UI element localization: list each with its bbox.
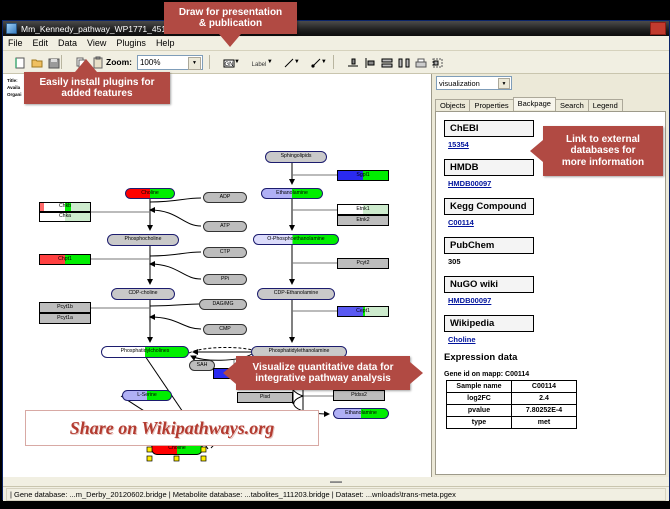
menu-file[interactable]: File bbox=[7, 38, 24, 48]
node-label: Choline bbox=[141, 191, 159, 196]
node-label: CTP bbox=[220, 250, 230, 255]
gene-chkb[interactable]: Chkb bbox=[39, 202, 91, 212]
node-ppi[interactable]: PPi bbox=[203, 274, 247, 285]
node-label: Ethanolamine bbox=[345, 411, 377, 416]
status-bar: | Gene database: ...m_Derby_20120602.bri… bbox=[3, 486, 669, 501]
node-dagmg[interactable]: DAG/MG bbox=[199, 299, 247, 310]
node-label: Ptdss2 bbox=[351, 393, 367, 398]
node-label: Ethanolamine bbox=[276, 191, 308, 196]
node-label: Sgpl1 bbox=[356, 173, 369, 178]
node-label: Pcyt1a bbox=[57, 316, 73, 321]
table-row: type met bbox=[447, 417, 577, 429]
db-header-pubchem: PubChem bbox=[444, 237, 534, 254]
align-top-icon[interactable] bbox=[340, 55, 354, 69]
node-o-phosphoethanolamine[interactable]: O-Phosphoethanolamine bbox=[253, 234, 339, 245]
expression-table: Sample name C00114 log2FC 2.4 pvalue 7.8… bbox=[446, 380, 577, 429]
node-label: O-Phosphoethanolamine bbox=[267, 237, 324, 242]
node-label: Pisd bbox=[260, 395, 270, 400]
toolbar-separator-2 bbox=[209, 55, 210, 69]
tab-objects[interactable]: Objects bbox=[435, 99, 470, 111]
interaction-icon[interactable] bbox=[303, 55, 317, 69]
app-icon bbox=[6, 23, 17, 34]
table-row: pvalue 7.80252E-4 bbox=[447, 405, 577, 417]
gene-product-icon[interactable]: GN bbox=[216, 55, 230, 69]
toolbar-separator-3 bbox=[333, 55, 334, 69]
expr-value-pvalue: 7.80252E-4 bbox=[512, 405, 577, 417]
node-label: CDP-choline bbox=[128, 291, 157, 296]
db-header-chebi: ChEBI bbox=[444, 120, 534, 137]
node-label: Pcyt1b bbox=[57, 305, 73, 310]
group-icon[interactable] bbox=[425, 55, 439, 69]
gene-ptdss2[interactable]: Ptdss2 bbox=[333, 390, 385, 401]
gene-chka[interactable]: Chka bbox=[39, 212, 91, 222]
table-row: Sample name C00114 bbox=[447, 381, 577, 393]
gene-id-line: Gene id on mapp: C00114 bbox=[444, 371, 665, 378]
horizontal-scrollbar[interactable]: ▬▬ bbox=[3, 477, 669, 486]
expr-value-type: met bbox=[512, 417, 577, 429]
node-label: Chka bbox=[59, 214, 71, 219]
link-callout-arrow bbox=[530, 140, 543, 162]
zoom-label: Zoom: bbox=[106, 57, 132, 67]
align-left-icon[interactable] bbox=[357, 55, 371, 69]
menu-plugins[interactable]: Plugins bbox=[115, 38, 147, 48]
tool-bar[interactable]: Zoom: 100% ▼ GN ▼ Label ▼ ▼ ▼ bbox=[3, 51, 669, 74]
visualize-callout: Visualize quantitative data for integrat… bbox=[236, 356, 410, 390]
node-choline-top[interactable]: Choline bbox=[125, 188, 175, 199]
gene-etnk2[interactable]: Etnk2 bbox=[337, 215, 389, 226]
node-phosphatidylcholines[interactable]: Phosphatidylcholines bbox=[101, 346, 189, 358]
toolbar-separator-1 bbox=[61, 55, 62, 69]
visualization-value: visualization bbox=[439, 79, 480, 88]
title-bar: Mm_Kennedy_pathway_WP1771_45176.gpml bbox=[3, 21, 669, 36]
node-label: SAH bbox=[197, 363, 208, 368]
svg-text:Label: Label bbox=[252, 62, 267, 68]
zoom-combo[interactable]: 100% ▼ bbox=[137, 55, 203, 70]
menu-help[interactable]: Help bbox=[155, 38, 176, 48]
node-label: Chpt1 bbox=[58, 257, 72, 262]
db-header-wikipedia: Wikipedia bbox=[444, 315, 534, 332]
node-label: Cept1 bbox=[356, 309, 370, 314]
chevron-down-icon[interactable]: ▼ bbox=[498, 78, 510, 89]
plugins-callout: Easily install plugins for added feature… bbox=[24, 72, 170, 104]
expr-label-pvalue: pvalue bbox=[447, 405, 512, 417]
node-cmp[interactable]: CMP bbox=[203, 324, 247, 335]
db-link-hmdb[interactable]: HMDB00097 bbox=[448, 179, 665, 188]
node-label: CMP bbox=[219, 327, 231, 332]
visualize-callout-arrow-left bbox=[223, 362, 236, 384]
expr-label-sample-name: Sample name bbox=[447, 381, 512, 393]
node-ethanolamine-top[interactable]: Ethanolamine bbox=[261, 188, 323, 199]
tab-properties[interactable]: Properties bbox=[469, 99, 513, 111]
node-label: CDP-Ethanolamine bbox=[274, 291, 318, 296]
node-label: DAG/MG bbox=[212, 302, 233, 307]
node-cdp-choline[interactable]: CDP-choline bbox=[111, 288, 175, 300]
menu-data[interactable]: Data bbox=[57, 38, 78, 48]
gene-sgpl1[interactable]: Sgpl1 bbox=[337, 170, 389, 181]
db-link-nugo-wiki[interactable]: HMDB00097 bbox=[448, 296, 665, 305]
visualization-select[interactable]: visualization ▼ bbox=[436, 76, 512, 90]
node-ctp[interactable]: CTP bbox=[203, 247, 247, 258]
window-controls[interactable] bbox=[650, 22, 666, 35]
node-sah[interactable]: SAH bbox=[189, 360, 215, 371]
node-label: Pcyt2 bbox=[357, 261, 370, 266]
pathway-canvas[interactable]: Title: Availa Organi bbox=[3, 74, 432, 477]
status-bar-text: | Gene database: ...m_Derby_20120602.bri… bbox=[6, 488, 666, 501]
chevron-down-icon[interactable]: ▼ bbox=[188, 57, 201, 70]
share-callout: Share on Wikipathways.org bbox=[25, 410, 319, 446]
open-file-icon[interactable] bbox=[24, 55, 38, 69]
draw-callout: Draw for presentation & publication bbox=[164, 2, 297, 34]
new-file-icon[interactable] bbox=[7, 55, 21, 69]
db-header-hmdb: HMDB bbox=[444, 159, 534, 176]
db-link-wikipedia[interactable]: Choline bbox=[448, 335, 665, 344]
node-label: ATP bbox=[220, 224, 230, 229]
plugins-callout-arrow bbox=[75, 59, 97, 72]
node-atp[interactable]: ATP bbox=[203, 221, 247, 232]
visualize-callout-arrow-right bbox=[410, 362, 423, 384]
node-sphingolipids[interactable]: Sphingolipids bbox=[265, 151, 327, 163]
node-label: Etnk2 bbox=[356, 218, 369, 223]
gene-chpt1[interactable]: Chpt1 bbox=[39, 254, 91, 265]
gene-pcyt1a[interactable]: Pcyt1a bbox=[39, 313, 91, 324]
node-label: Chkb bbox=[59, 204, 71, 209]
db-header-kegg-compound: Kegg Compound bbox=[444, 198, 534, 215]
node-label: PPi bbox=[221, 277, 229, 282]
db-link-kegg-compound[interactable]: C00114 bbox=[448, 218, 665, 227]
zoom-value: 100% bbox=[140, 58, 160, 67]
expr-label-type: type bbox=[447, 417, 512, 429]
stack-vertical-icon[interactable] bbox=[374, 55, 388, 69]
node-label: Sphingolipids bbox=[281, 154, 312, 159]
save-file-icon[interactable] bbox=[41, 55, 55, 69]
expression-data-heading: Expression data bbox=[444, 352, 665, 363]
node-l-serine-left[interactable]: L-Serine bbox=[122, 390, 172, 401]
node-label: L-Serine bbox=[137, 393, 157, 398]
node-label: Etnk1 bbox=[356, 207, 369, 212]
link-callout: Link to external databases for more info… bbox=[543, 126, 663, 176]
gene-pcyt1b[interactable]: Pcyt1b bbox=[39, 302, 91, 313]
svg-text:GN: GN bbox=[224, 62, 233, 68]
menu-bar[interactable]: File Edit Data View Plugins Help bbox=[3, 36, 669, 51]
menu-edit[interactable]: Edit bbox=[32, 38, 50, 48]
minimize-button[interactable] bbox=[650, 22, 666, 35]
print-icon[interactable] bbox=[408, 55, 422, 69]
distribute-icon[interactable] bbox=[391, 55, 405, 69]
share-callout-text: Share on Wikipathways.org bbox=[70, 418, 275, 439]
gene-pisd[interactable]: Pisd bbox=[237, 392, 293, 403]
table-row: log2FC 2.4 bbox=[447, 393, 577, 405]
node-label: Phosphatidylcholines bbox=[121, 349, 170, 354]
tab-backpage[interactable]: Backpage bbox=[513, 97, 556, 110]
db-header-nugo-wiki: NuGO wiki bbox=[444, 276, 534, 293]
expr-value-sample-name: C00114 bbox=[512, 381, 577, 393]
node-ethanolamine-bottom[interactable]: Ethanolamine bbox=[333, 408, 389, 419]
node-cdp-ethanolamine[interactable]: CDP-Ethanolamine bbox=[257, 288, 335, 300]
menu-view[interactable]: View bbox=[86, 38, 107, 48]
expr-label-log2fc: log2FC bbox=[447, 393, 512, 405]
tab-search[interactable]: Search bbox=[555, 99, 589, 111]
tab-legend[interactable]: Legend bbox=[588, 99, 623, 111]
db-value-pubchem: 305 bbox=[448, 257, 665, 266]
label-icon[interactable]: Label bbox=[243, 55, 263, 69]
draw-callout-arrow bbox=[219, 34, 241, 47]
node-phosphocholine[interactable]: Phosphocholine bbox=[107, 234, 179, 246]
node-label: ADP bbox=[220, 195, 231, 200]
node-label: Phosphatidylethanolamine bbox=[269, 349, 330, 354]
gene-etnk1[interactable]: Etnk1 bbox=[337, 204, 389, 215]
panel-tabs[interactable]: Objects Properties Backpage Search Legen… bbox=[435, 98, 622, 111]
gene-cept1[interactable]: Cept1 bbox=[337, 306, 389, 317]
node-adp[interactable]: ADP bbox=[203, 192, 247, 203]
line-icon[interactable] bbox=[276, 55, 290, 69]
gene-pcyt2[interactable]: Pcyt2 bbox=[337, 258, 389, 269]
node-label: Phosphocholine bbox=[125, 237, 162, 242]
screenshot-root: Mm_Kennedy_pathway_WP1771_45176.gpml Fil… bbox=[0, 0, 670, 509]
expr-value-log2fc: 2.4 bbox=[512, 393, 577, 405]
